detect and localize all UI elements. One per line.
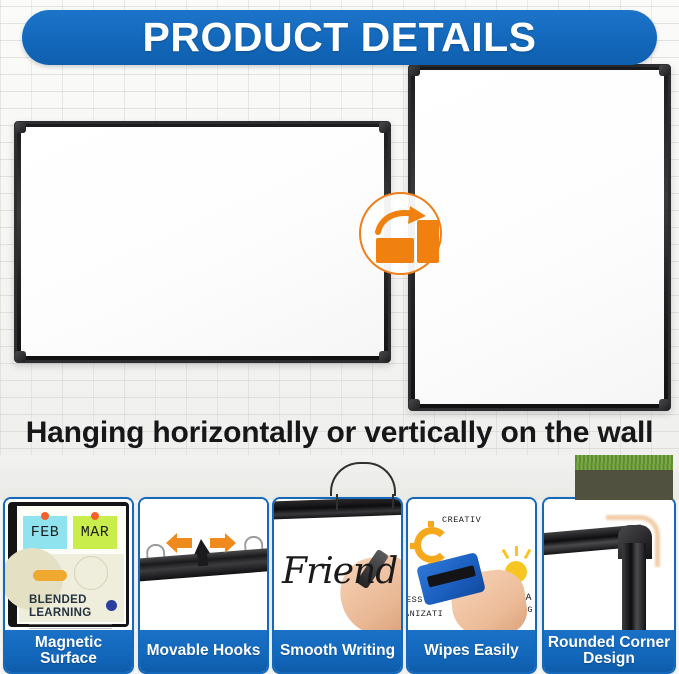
feature-label-smooth-writing: Smooth Writing [274, 630, 401, 672]
poster-title: BLENDED LEARNING [29, 594, 118, 620]
feature-card-magnetic-surface[interactable]: FEB MAR BLENDED LEARNING Magnetic Surfac… [3, 497, 134, 674]
feature-label-magnetic-surface: Magnetic Surface [5, 630, 132, 672]
corner-bracket-bottom-left [15, 351, 26, 362]
frame-arm-vertical [622, 543, 646, 630]
feature-card-wipes-easily[interactable]: NEW YORK CREATIV IDEA LOPING ESS ANIZATI… [406, 497, 537, 674]
bulb-ray [524, 549, 532, 559]
product-details-banner: PRODUCT DETAILS [22, 10, 657, 65]
sticky-note-mar-text: MAR [81, 524, 110, 541]
globe-icon [74, 556, 108, 590]
mini-whiteboard-surface: FEB MAR BLENDED LEARNING [17, 506, 126, 624]
magnet-dot-icon [41, 512, 49, 520]
feature-card-rounded-corner-design[interactable]: Rounded Corner Design [542, 497, 676, 674]
feature-art-rounded-corner [544, 499, 674, 630]
handwriting-sample: Friend [282, 551, 397, 592]
corner-bracket-top-right [659, 65, 670, 76]
corner-bracket-top-left [409, 65, 420, 76]
feature-art-wipes-easily: NEW YORK CREATIV IDEA LOPING ESS ANIZATI [408, 499, 535, 630]
horizontal-whiteboard [14, 121, 391, 363]
feature-art-magnetic-surface: FEB MAR BLENDED LEARNING [5, 499, 132, 630]
eraser-felt-pad [427, 565, 476, 587]
corner-bracket-top-left [15, 122, 26, 133]
feature-label-movable-hooks: Movable Hooks [140, 630, 267, 672]
bulb-ray [502, 549, 510, 559]
sticky-note-mar: MAR [73, 516, 117, 549]
planter-box-decoration [575, 470, 673, 500]
corner-bracket-bottom-left [409, 399, 420, 410]
keyword-anizati: ANIZATI [408, 609, 443, 619]
chair-leg-right [392, 494, 394, 510]
poster-panel: BLENDED LEARNING [19, 554, 124, 622]
corner-bracket-bottom-right [659, 399, 670, 410]
whiteboard-surface-vertical [415, 70, 664, 404]
feature-card-strip: FEB MAR BLENDED LEARNING Magnetic Surfac… [0, 497, 679, 674]
feature-label-wipes-easily: Wipes Easily [408, 630, 535, 672]
arrow-left-icon [166, 533, 192, 553]
gear-icon [414, 527, 450, 563]
curved-arrow-icon [374, 206, 430, 236]
bulb-ray [515, 546, 518, 556]
hero-tagline: Hanging horizontally or vertically on th… [0, 416, 679, 450]
feature-card-smooth-writing[interactable]: Friend Smooth Writing [272, 497, 403, 674]
chair-leg-left [336, 494, 338, 510]
sticky-note-feb: FEB [23, 516, 67, 549]
hook-stem-shape [197, 552, 208, 567]
magnet-dot-blue-icon [106, 600, 117, 611]
poster-badge-pill [33, 570, 67, 581]
landscape-bar-shape [376, 238, 414, 263]
gear-tooth [410, 543, 416, 549]
page-title: PRODUCT DETAILS [143, 17, 537, 58]
vertical-whiteboard [408, 64, 671, 411]
sticky-note-feb-text: FEB [31, 524, 60, 541]
rotate-orientation-icon [359, 192, 442, 275]
feature-art-movable-hooks [140, 499, 267, 630]
feature-art-smooth-writing: Friend [274, 499, 401, 630]
feature-label-rounded-corner-design: Rounded Corner Design [544, 630, 674, 672]
corner-bracket-top-right [379, 122, 390, 133]
magnet-dot-icon [91, 512, 99, 520]
whiteboard-surface-horizontal [21, 127, 384, 356]
corner-bracket-bottom-right [379, 351, 390, 362]
gear-tooth [428, 521, 434, 527]
keyword-creativ: CREATIV [442, 515, 481, 525]
arrow-right-icon [210, 533, 236, 553]
keyword-ess: ESS [408, 595, 423, 605]
feature-card-movable-hooks[interactable]: Movable Hooks [138, 497, 269, 674]
